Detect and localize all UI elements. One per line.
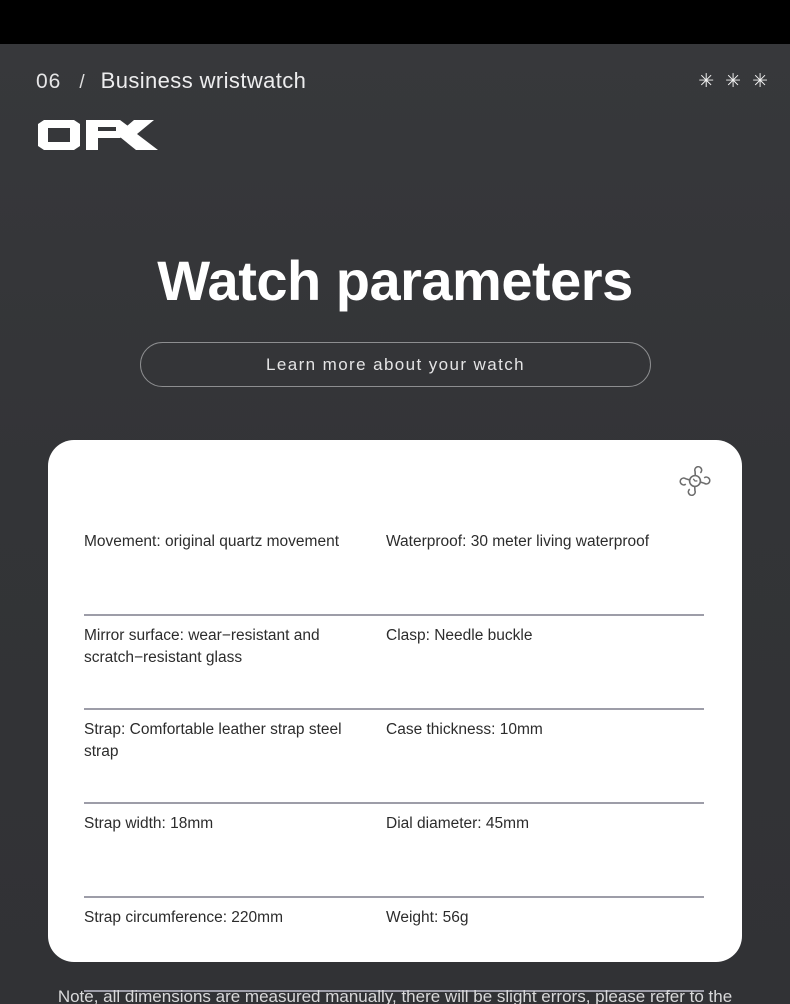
spec-cell-right: Weight: 56g <box>386 898 704 990</box>
learn-more-button[interactable]: Learn more about your watch <box>140 342 651 387</box>
spec-cell-right: Case thickness: 10mm <box>386 710 704 802</box>
content-background: 06 / Business wristwatch ✳ ✳ ✳ OPK Wat <box>0 44 790 1004</box>
table-row: Movement: original quartz movement Water… <box>84 522 704 616</box>
specs-table: Movement: original quartz movement Water… <box>84 522 704 992</box>
breadcrumb-separator: / <box>79 72 84 94</box>
spec-cell-right: Waterproof: 30 meter living waterproof <box>386 522 704 614</box>
asterisk-icon: ✳ <box>752 72 768 91</box>
table-row: Strap circumference: 220mm Weight: 56g <box>84 898 704 992</box>
specs-card: Movement: original quartz movement Water… <box>48 440 742 962</box>
spec-cell-left: Strap circumference: 220mm <box>84 898 386 990</box>
spec-cell-left: Movement: original quartz movement <box>84 522 386 614</box>
spec-cell-left: Strap width: 18mm <box>84 804 386 896</box>
table-row: Strap: Comfortable leather strap steel s… <box>84 710 704 804</box>
asterisk-icon: ✳ <box>725 72 741 91</box>
table-row: Strap width: 18mm Dial diameter: 45mm <box>84 804 704 898</box>
disclaimer-note: Note, all dimensions are measured manual… <box>0 985 790 1004</box>
spec-cell-left: Mirror surface: wear−resistant and scrat… <box>84 616 386 708</box>
section-title: Business wristwatch <box>101 68 307 94</box>
watch-icon <box>678 466 712 496</box>
table-row: Mirror surface: wear−resistant and scrat… <box>84 616 704 710</box>
section-number: 06 <box>36 70 61 94</box>
page-root: 06 / Business wristwatch ✳ ✳ ✳ OPK Wat <box>0 0 790 1004</box>
asterisk-icon: ✳ <box>698 72 714 91</box>
breadcrumb: 06 / Business wristwatch <box>36 68 306 94</box>
learn-more-label: Learn more about your watch <box>266 355 525 375</box>
page-title: Watch parameters <box>0 252 790 311</box>
spec-cell-right: Clasp: Needle buckle <box>386 616 704 708</box>
page-header: 06 / Business wristwatch ✳ ✳ ✳ OPK <box>0 44 790 169</box>
top-black-bar <box>0 0 790 44</box>
spec-cell-right: Dial diameter: 45mm <box>386 804 704 896</box>
brand-logo: OPK <box>36 120 160 150</box>
asterisk-decoration: ✳ ✳ ✳ <box>698 72 768 91</box>
spec-cell-left: Strap: Comfortable leather strap steel s… <box>84 710 386 802</box>
